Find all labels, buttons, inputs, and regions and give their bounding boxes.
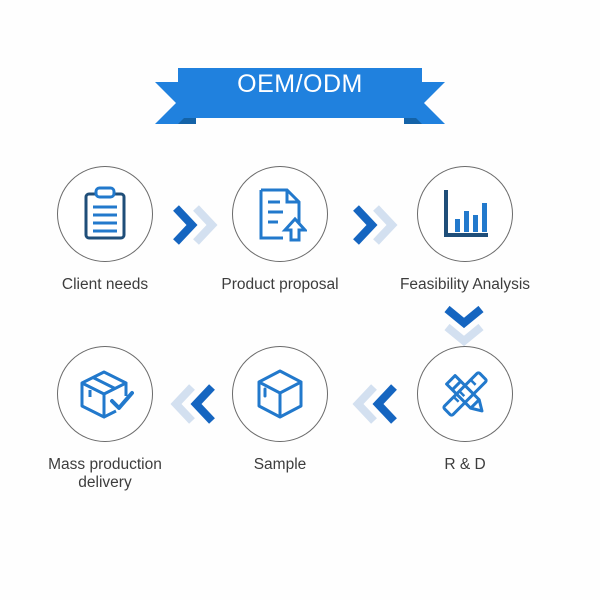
chevron-double-right-icon — [348, 198, 402, 252]
flow-step-label: Mass production delivery — [15, 456, 195, 492]
client-needs-icon-circle[interactable] — [57, 166, 153, 262]
chevron-double-left-icon — [166, 377, 220, 431]
chevron-double-right-icon — [168, 198, 222, 252]
connector-top-1 — [168, 198, 222, 252]
flow-step-feasibility-analysis[interactable]: Feasibility Analysis — [375, 166, 555, 294]
chevron-double-down-icon — [437, 303, 491, 349]
document-upload-icon — [253, 186, 307, 242]
feasibility-analysis-icon-circle[interactable] — [417, 166, 513, 262]
flow-row-top: Client needs — [0, 166, 600, 316]
sample-icon-circle[interactable] — [232, 346, 328, 442]
connector-bottom-1 — [166, 377, 220, 431]
flow-step-label: R & D — [375, 456, 555, 474]
flow-step-label: Product proposal — [190, 276, 370, 294]
product-proposal-icon-circle[interactable] — [232, 166, 328, 262]
flow-step-research-development[interactable]: R & D — [375, 346, 555, 474]
box-check-icon — [76, 366, 134, 422]
rnd-icon-circle[interactable] — [417, 346, 513, 442]
diagram-canvas: OEM/ODM — [0, 0, 600, 600]
flow-step-label: Client needs — [15, 276, 195, 294]
ribbon-title: OEM/ODM — [0, 62, 600, 106]
bar-chart-icon — [438, 187, 492, 241]
pencil-ruler-icon — [437, 366, 493, 422]
chevron-double-left-icon — [348, 377, 402, 431]
mass-production-icon-circle[interactable] — [57, 346, 153, 442]
connector-top-2 — [348, 198, 402, 252]
flow-step-label: Feasibility Analysis — [375, 276, 555, 294]
flow-row-bottom: Mass production delivery Sample — [0, 346, 600, 496]
clipboard-icon — [78, 186, 132, 242]
flow-step-label: Sample — [190, 456, 370, 474]
connector-down — [437, 303, 491, 349]
connector-bottom-2 — [348, 377, 402, 431]
cube-icon — [253, 366, 307, 422]
